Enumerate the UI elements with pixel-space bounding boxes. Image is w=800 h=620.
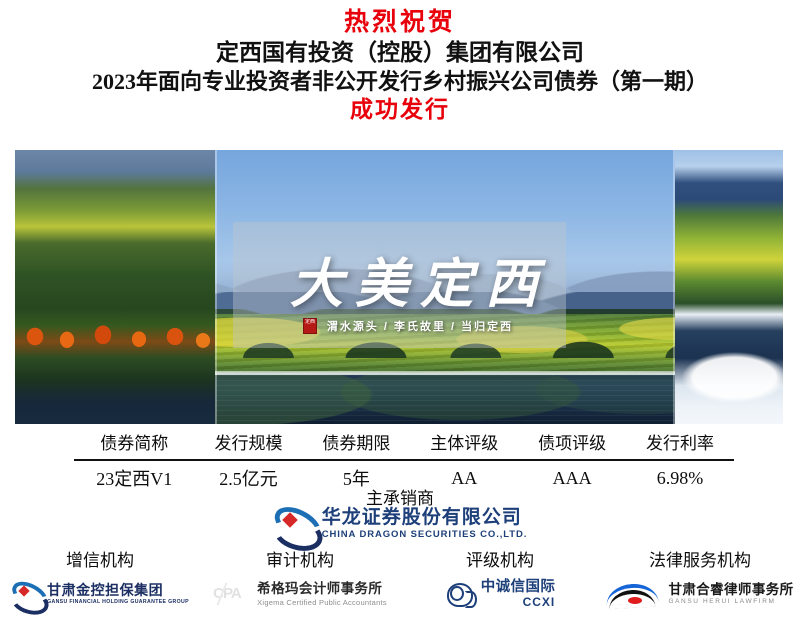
headline-block: 热烈祝贺 定西国有投资（控股）集团有限公司 2023年面向专业投资者非公开发行乡… (0, 0, 800, 124)
col-header-bond-rating: 债项评级 (518, 426, 626, 460)
institution-rating-agency: 评级机构 中诚信国际 CCXI (400, 546, 600, 620)
institution-title-auditor: 审计机构 (266, 546, 334, 571)
photo-seam-left (215, 150, 217, 424)
col-header-issuer-rating: 主体评级 (410, 426, 518, 460)
institution-logo-auditor: CPA 希格玛会计师事务所 Xigema Certified Public Ac… (213, 576, 387, 612)
col-header-coupon-rate: 发行利率 (626, 426, 734, 460)
institution-name-en-auditor: Xigema Certified Public Accountants (257, 599, 387, 607)
institution-logo-credit-enhancement: 甘肃金控担保集团 GANSU FINANCIAL HOLDING GUARANT… (11, 576, 189, 612)
institution-legal-services: 法律服务机构 甘肃合睿律师事务所 GANSU HERUI LAWFIRM (600, 546, 800, 620)
institution-name-en-rating-agency: CCXI (481, 596, 556, 608)
scenery-photo: 大美定西 定西 渭水源头 / 李氏故里 / 当归定西 (15, 150, 783, 424)
institution-title-credit-enhancement: 增信机构 (66, 546, 134, 571)
table-header-row: 债券简称 发行规模 债券期限 主体评级 债项评级 发行利率 (74, 426, 734, 460)
col-header-bond-short-name: 债券简称 (74, 426, 195, 460)
cpa-monogram-icon: CPA (213, 580, 251, 608)
institution-logo-legal-services: 甘肃合睿律师事务所 GANSU HERUI LAWFIRM (606, 576, 793, 612)
institutions-row: 增信机构 甘肃金控担保集团 GANSU FINANCIAL HOLDING GU… (0, 546, 800, 620)
institution-title-rating-agency: 评级机构 (466, 546, 534, 571)
right-panel-layer (675, 150, 783, 424)
calligraphy-title: 大美定西 (270, 242, 570, 318)
institution-name-en-legal-services: GANSU HERUI LAWFIRM (668, 599, 793, 606)
col-header-issue-size: 发行规模 (195, 426, 303, 460)
left-hillside-layer (15, 150, 215, 424)
col-header-bond-tenor: 债券期限 (302, 426, 410, 460)
china-dragon-swoosh-icon (273, 506, 313, 542)
institution-auditor: 审计机构 CPA 希格玛会计师事务所 Xigema Certified Publ… (200, 546, 400, 620)
calligraphy-subtitle: 渭水源头 / 李氏故里 / 当归定西 (240, 318, 600, 334)
institution-credit-enhancement: 增信机构 甘肃金控担保集团 GANSU FINANCIAL HOLDING GU… (0, 546, 200, 620)
gansu-swoosh-icon (11, 581, 41, 607)
bond-issuance-poster: 热烈祝贺 定西国有投资（控股）集团有限公司 2023年面向专业投资者非公开发行乡… (0, 0, 800, 620)
success-title: 成功发行 (0, 96, 800, 124)
bond-full-name: 2023年面向专业投资者非公开发行乡村振兴公司债券（第一期） (0, 67, 800, 96)
underwriter-name-cn: 华龙证券股份有限公司 (322, 508, 528, 527)
institution-name-cn-rating-agency: 中诚信国际 (481, 580, 556, 595)
institution-name-en-credit-enhancement: GANSU FINANCIAL HOLDING GUARANTEE GROUP (47, 600, 189, 605)
institution-title-legal-services: 法律服务机构 (649, 546, 751, 571)
underwriter-logo: 华龙证券股份有限公司 CHINA DRAGON SECURITIES CO.,L… (0, 506, 800, 542)
issuer-name: 定西国有投资（控股）集团有限公司 (0, 38, 800, 67)
elephant-icon (445, 580, 475, 608)
institution-name-cn-legal-services: 甘肃合睿律师事务所 (668, 583, 793, 597)
congratulations-title: 热烈祝贺 (0, 8, 800, 38)
institution-logo-rating-agency: 中诚信国际 CCXI (445, 576, 556, 612)
herui-swoosh-icon (606, 581, 662, 607)
photo-seam-right (673, 150, 675, 424)
institution-name-cn-credit-enhancement: 甘肃金控担保集团 (47, 583, 189, 597)
institution-name-cn-auditor: 希格玛会计师事务所 (257, 582, 387, 596)
underwriter-name-en: CHINA DRAGON SECURITIES CO.,LTD. (322, 530, 528, 540)
